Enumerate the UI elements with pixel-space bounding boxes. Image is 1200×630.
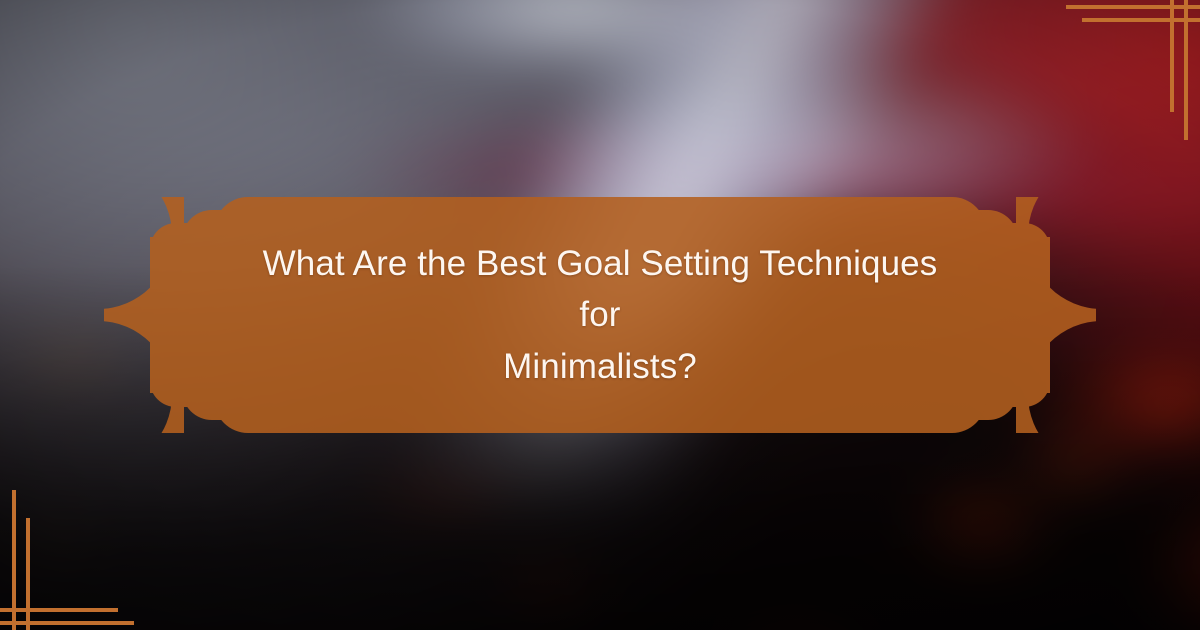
title-card: What Are the Best Goal Setting Technique… [104,197,1096,433]
social-card-canvas: What Are the Best Goal Setting Technique… [0,0,1200,630]
card-title: What Are the Best Goal Setting Technique… [254,197,946,433]
